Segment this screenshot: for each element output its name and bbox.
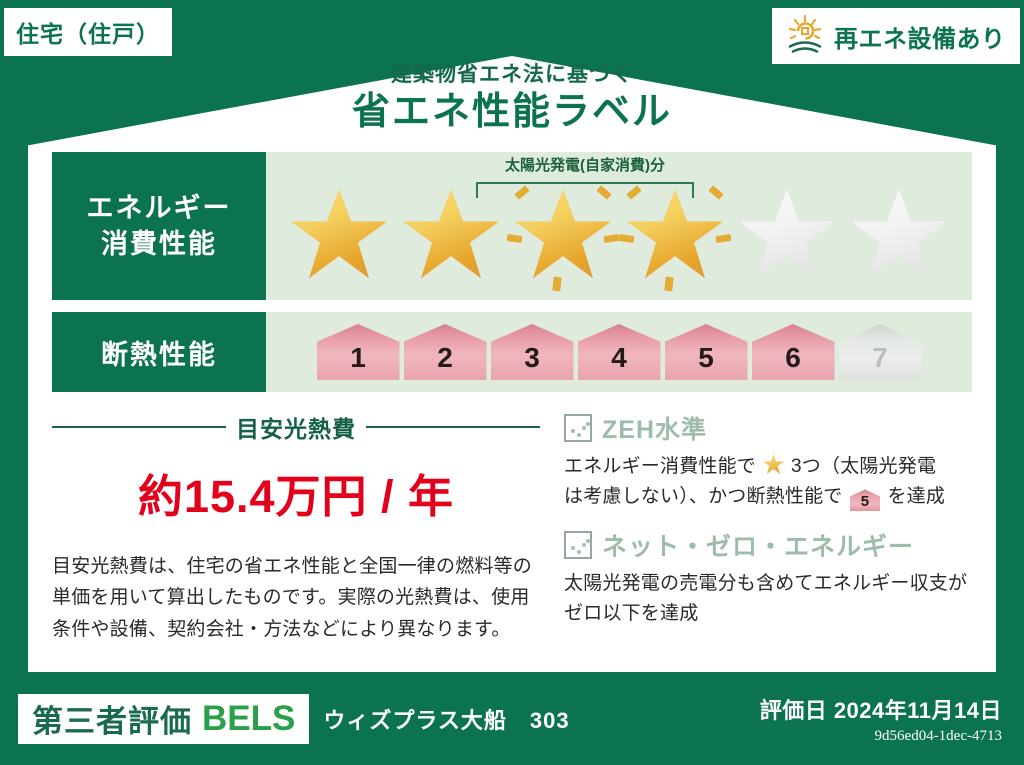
criterion-nze-title: ネット・ゼロ・エネルギー — [602, 527, 914, 563]
star-icon — [513, 187, 613, 283]
sparkle-icon — [619, 234, 635, 243]
insulation-performance-row: 断熱性能 1 2 3 4 5 6 7 — [52, 312, 972, 392]
energy-performance-row: エネルギー 消費性能 太陽光発電(自家消費)分 — [52, 152, 972, 300]
lower-section: 目安光熱費 約15.4万円 / 年 目安光熱費は、住宅の省エネ性能と全国一律の燃… — [52, 410, 972, 645]
energy-rating-area: 太陽光発電(自家消費)分 — [266, 152, 972, 300]
sparkle-icon — [626, 185, 641, 199]
criteria-column: ZEH水準 エネルギー消費性能で 3つ（太陽光発電 は考慮しない）、かつ断熱性能… — [552, 410, 972, 645]
star-icon — [849, 187, 949, 283]
star-icon — [625, 187, 725, 283]
insulation-level-3: 3 — [491, 324, 574, 380]
evaluation-info: 評価日 2024年11月14日 9d56ed04-1dec-4713 — [760, 693, 1002, 745]
star-3 — [509, 183, 617, 287]
insulation-level-5: 5 — [665, 324, 748, 380]
criterion-nze: ネット・ゼロ・エネルギー 太陽光発電の売電分も含めてエネルギー収支がゼロ以下を達… — [564, 527, 972, 630]
sparkle-icon — [664, 277, 673, 292]
insulation-level-1: 1 — [317, 324, 400, 380]
utility-cost-value: 約15.4万円 / 年 — [52, 460, 540, 525]
rule-right — [366, 426, 540, 428]
insulation-level-scale: 1 2 3 4 5 6 7 — [317, 324, 922, 380]
utility-cost-column: 目安光熱費 約15.4万円 / 年 目安光熱費は、住宅の省エネ性能と全国一律の燃… — [52, 410, 552, 645]
house-badge-icon: 5 — [850, 489, 880, 511]
title-subtitle: 建築物省エネ法に基づく — [0, 62, 1024, 87]
evaluation-id: 9d56ed04-1dec-4713 — [760, 728, 1002, 745]
energy-performance-label-block: エネルギー 消費性能 — [52, 152, 266, 300]
utility-cost-title: 目安光熱費 — [236, 410, 356, 444]
energy-performance-label: 住宅（住戸） 再エネ設備あり — [0, 0, 1024, 765]
criterion-nze-heading: ネット・ゼロ・エネルギー — [564, 527, 972, 563]
utility-cost-note: 目安光熱費は、住宅の省エネ性能と全国一律の燃料等の単価を用いて算出したものです。… — [52, 551, 540, 645]
zeh-text-part1: エネルギー消費性能で — [564, 456, 756, 477]
insulation-rating-area: 1 2 3 4 5 6 7 — [266, 312, 972, 392]
zeh-star-count: 3つ（太陽光発電 — [791, 456, 936, 477]
star-icon — [401, 187, 501, 283]
insulation-level-2: 2 — [404, 324, 487, 380]
sparkle-icon — [552, 277, 561, 292]
sparkle-icon — [604, 234, 620, 243]
insulation-level-6: 6 — [752, 324, 835, 380]
sparkle-icon — [716, 234, 732, 243]
star-4 — [621, 183, 729, 287]
renewable-equipment-badge: 再エネ設備あり — [772, 8, 1020, 64]
insulation-level-4: 4 — [578, 324, 661, 380]
house-type-badge: 住宅（住戸） — [4, 8, 172, 56]
star-icon — [763, 454, 785, 475]
star-5 — [733, 183, 841, 287]
checkbox-unchecked-icon — [564, 414, 592, 442]
bels-en-label: BELS — [202, 699, 295, 739]
sparkle-icon — [596, 185, 611, 199]
criterion-zeh: ZEH水準 エネルギー消費性能で 3つ（太陽光発電 は考慮しない）、かつ断熱性能… — [564, 410, 972, 513]
sparkle-icon — [514, 185, 529, 199]
energy-label-line1: エネルギー — [87, 190, 232, 226]
rule-left — [52, 426, 226, 428]
star-icon — [737, 187, 837, 283]
sparkle-icon — [507, 234, 523, 243]
star-icon — [289, 187, 389, 283]
evaluation-date: 評価日 2024年11月14日 — [760, 693, 1002, 725]
footer: 第三者評価 BELS ウィズプラス大船 303 評価日 2024年11月14日 … — [0, 672, 1024, 765]
energy-label-line2: 消費性能 — [101, 226, 217, 262]
insulation-label: 断熱性能 — [101, 333, 217, 372]
solar-renewable-icon — [784, 14, 826, 59]
zeh-text-part2: は考慮しない）、かつ断熱性能で — [564, 486, 843, 507]
star-rating — [285, 183, 953, 287]
insulation-level-7: 7 — [839, 324, 922, 380]
sparkle-icon — [708, 185, 723, 199]
criterion-zeh-text: エネルギー消費性能で 3つ（太陽光発電 は考慮しない）、かつ断熱性能で 5 を達… — [564, 452, 972, 513]
title-main: 省エネ性能ラベル — [0, 89, 1024, 137]
criterion-zeh-heading: ZEH水準 — [564, 410, 972, 446]
insulation-performance-label-block: 断熱性能 — [52, 312, 266, 392]
star-1 — [285, 183, 393, 287]
building-name: ウィズプラス大船 303 — [323, 703, 569, 735]
star-6 — [845, 183, 953, 287]
bels-ja-label: 第三者評価 — [32, 696, 192, 741]
utility-cost-heading: 目安光熱費 — [52, 410, 540, 444]
checkbox-unchecked-icon — [564, 531, 592, 559]
page-title: 建築物省エネ法に基づく 省エネ性能ラベル — [0, 62, 1024, 137]
bels-certification-chip: 第三者評価 BELS — [18, 694, 309, 744]
criterion-nze-text: 太陽光発電の売電分も含めてエネルギー収支がゼロ以下を達成 — [564, 569, 972, 630]
renewable-label: 再エネ設備あり — [834, 19, 1006, 54]
criterion-zeh-title: ZEH水準 — [602, 410, 707, 446]
solar-self-consumption-caption: 太陽光発電(自家消費)分 — [458, 154, 712, 175]
star-2 — [397, 183, 505, 287]
house-type-label: 住宅（住戸） — [16, 15, 160, 49]
label-content: エネルギー 消費性能 太陽光発電(自家消費)分 — [52, 152, 972, 645]
zeh-text-part3: を達成 — [887, 486, 945, 507]
